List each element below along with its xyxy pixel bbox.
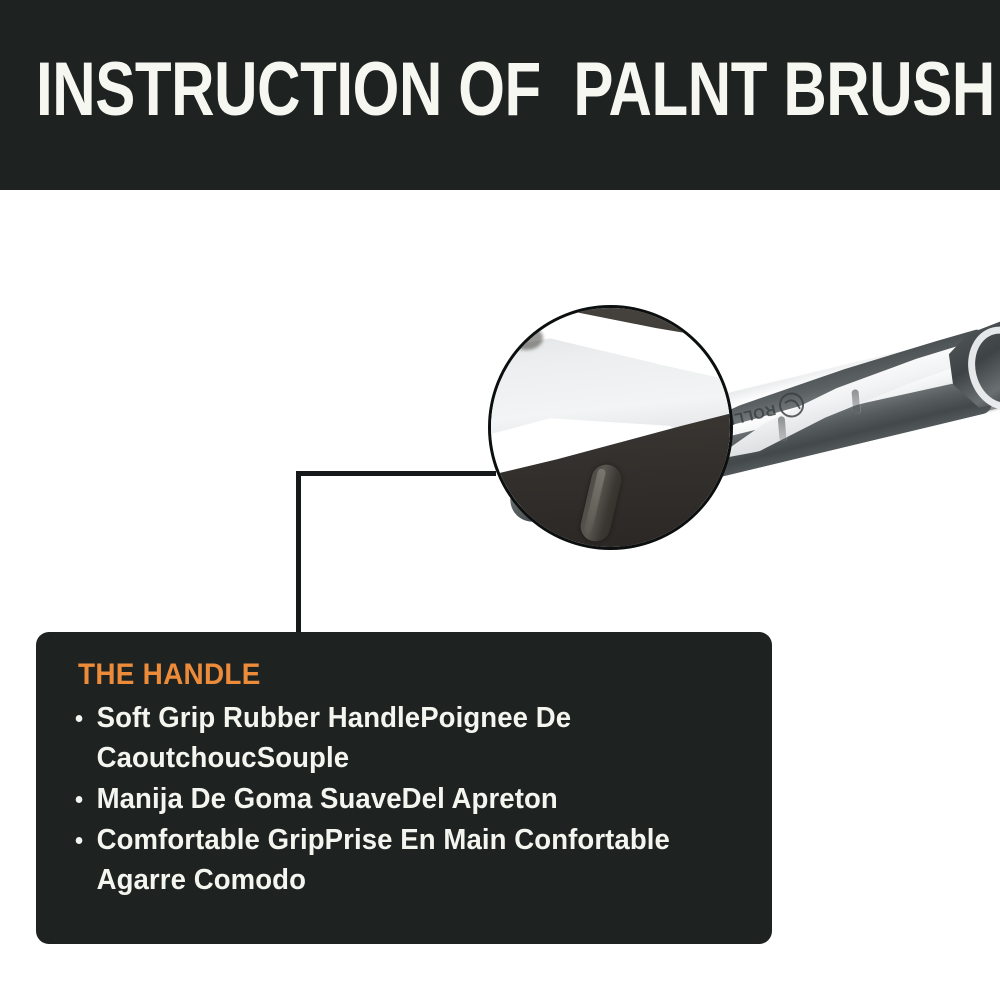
list-item: Comfortable GripPrise En Main Confortabl… [70,820,708,900]
callout-line-vertical [296,471,301,635]
magnifier-contents [488,305,733,550]
list-item: Soft Grip Rubber HandlePoignee De Caoutc… [70,698,708,778]
handle-feature-list: Soft Grip Rubber HandlePoignee De Caoutc… [70,698,742,900]
info-card-heading: THE HANDLE [78,658,696,692]
handle-info-card: THE HANDLE Soft Grip Rubber HandlePoigne… [36,632,772,944]
instruction-poster: INSTRUCTION OF PALNT BRUSH SET ROLLINGDO… [0,0,1000,1000]
page-title: INSTRUCTION OF PALNT BRUSH SET [36,47,775,133]
list-item: Manija De Goma SuaveDel Apreton [70,779,708,819]
handle-detail-magnifier [488,305,733,550]
header-band: INSTRUCTION OF PALNT BRUSH SET [0,0,1000,190]
detail-nub [509,326,543,350]
callout-line-horizontal [296,471,496,476]
